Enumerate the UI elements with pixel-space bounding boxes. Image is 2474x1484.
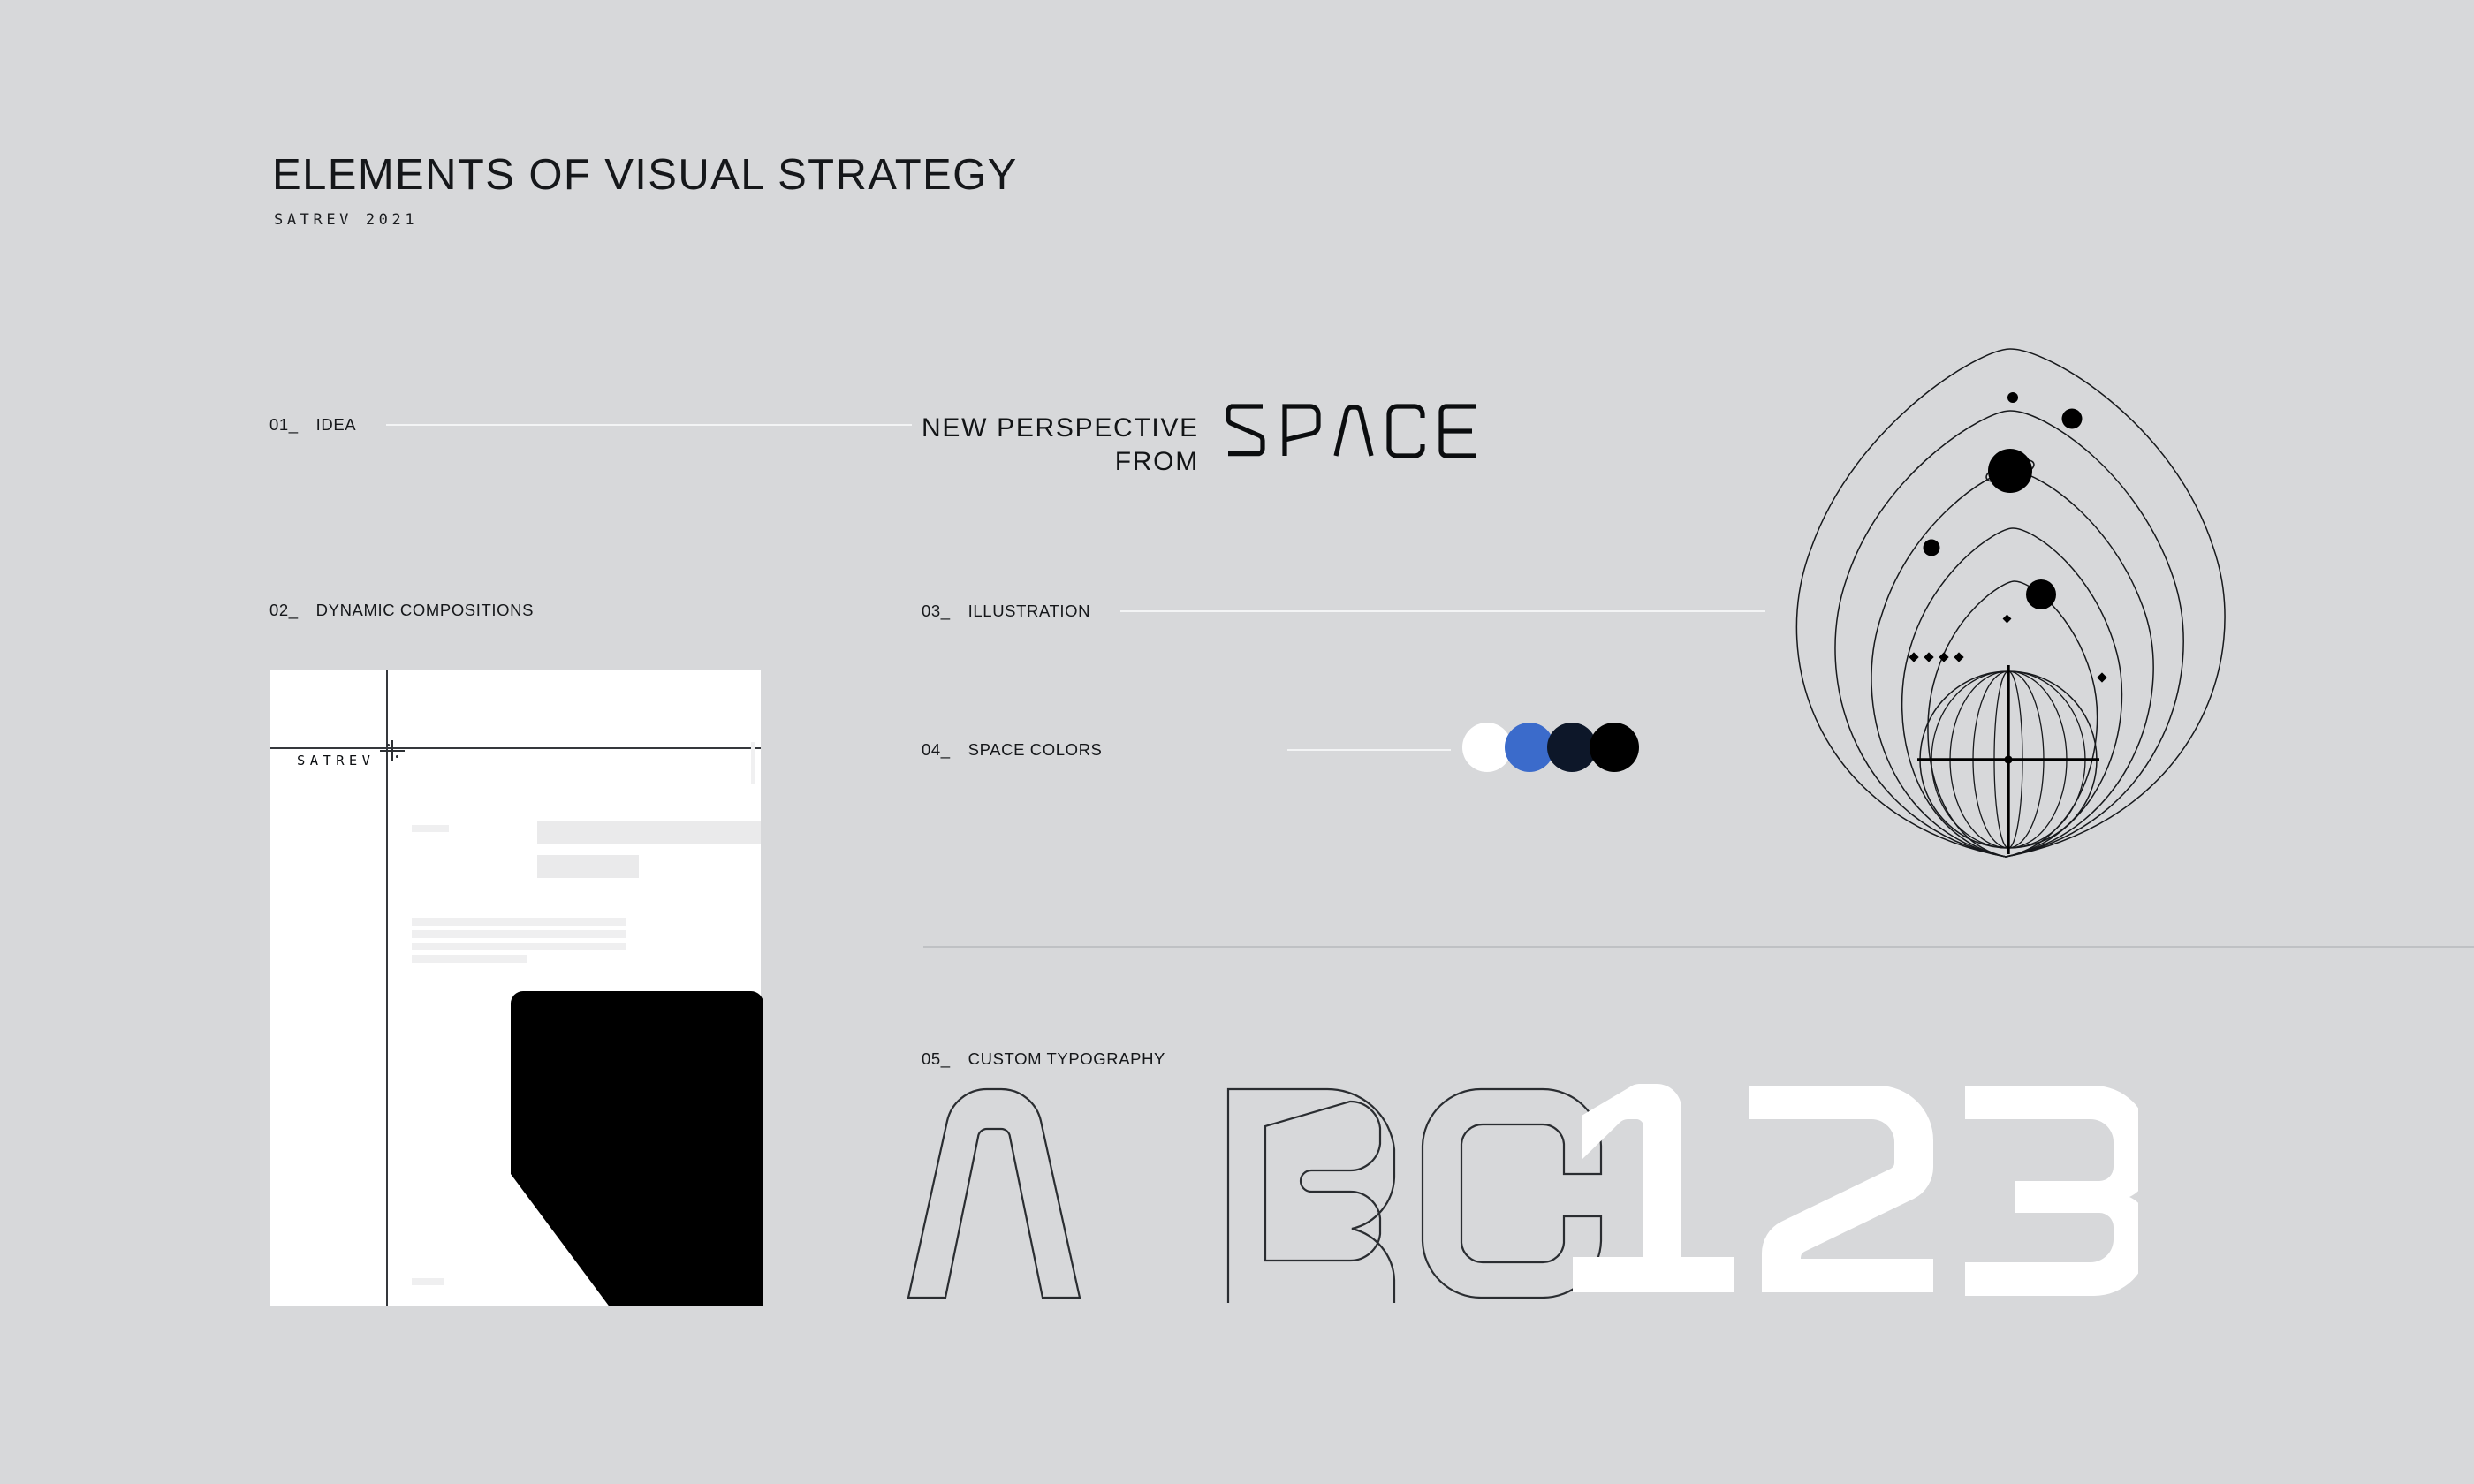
planet-medium-upper-right xyxy=(2062,409,2083,429)
section-03-illustration: 03_ ILLUSTRATION xyxy=(922,602,1765,621)
section-number: 05_ xyxy=(922,1049,951,1069)
layout-guide-horizontal xyxy=(270,747,761,749)
section-number: 03_ xyxy=(922,602,951,621)
section-number: 04_ xyxy=(922,740,951,760)
specimen-letters-abc xyxy=(908,1089,1601,1303)
headline-text: NEW PERSPECTIVE FROM xyxy=(922,404,1199,480)
section-04-space-colors: 04_ SPACE COLORS xyxy=(922,740,1451,760)
typography-specimen xyxy=(901,1082,2138,1307)
layout-guide-vertical xyxy=(386,670,388,1306)
section-number: 01_ xyxy=(269,415,299,435)
section-label: DYNAMIC COMPOSITIONS xyxy=(316,601,534,620)
placeholder-line xyxy=(412,943,626,950)
specimen-numerals-123 xyxy=(1573,1084,2138,1296)
headline-block: NEW PERSPECTIVE FROM xyxy=(922,404,1480,480)
planet-ringed xyxy=(1984,449,2036,493)
section-number: 02_ xyxy=(269,601,299,620)
headline-line-1: NEW PERSPECTIVE xyxy=(922,412,1199,445)
section-05-custom-typography: 05_ CUSTOM TYPOGRAPHY xyxy=(922,1049,1165,1069)
swatch-black[interactable] xyxy=(1590,723,1639,772)
section-01-idea: 01_ IDEA xyxy=(269,415,912,435)
headline-line-2: FROM xyxy=(922,445,1199,479)
placeholder-footer xyxy=(412,1278,444,1285)
placeholder-block xyxy=(537,855,639,878)
document-scrollbar[interactable] xyxy=(751,742,755,784)
section-rule xyxy=(1287,749,1451,751)
planet-medium-lower xyxy=(2026,579,2056,609)
space-wordmark xyxy=(1224,404,1480,463)
planet-small-left xyxy=(1924,540,1940,556)
horizontal-divider xyxy=(923,946,2474,948)
section-02-dynamic-compositions: 02_ DYNAMIC COMPOSITIONS xyxy=(269,601,534,620)
space-illustration xyxy=(1758,327,2253,888)
wireframe-globe xyxy=(1917,665,2099,854)
section-label: SPACE COLORS xyxy=(968,740,1103,760)
placeholder-label xyxy=(412,825,449,832)
registration-crosshair-icon xyxy=(380,740,405,761)
section-rule xyxy=(386,424,912,426)
color-swatch-group xyxy=(1462,723,1632,772)
document-logo: SATREV xyxy=(297,753,375,768)
orbit-rings xyxy=(1796,349,2225,857)
section-rule xyxy=(1120,610,1765,612)
placeholder-line xyxy=(412,955,527,963)
section-label: CUSTOM TYPOGRAPHY xyxy=(968,1049,1165,1069)
section-label: IDEA xyxy=(316,415,357,435)
section-label: ILLUSTRATION xyxy=(968,602,1090,621)
page-title: ELEMENTS OF VISUAL STRATEGY xyxy=(272,150,1018,200)
placeholder-line xyxy=(412,930,626,938)
brand-year-label: SATREV 2021 xyxy=(274,211,418,229)
placeholder-block xyxy=(537,821,761,844)
slide-canvas: ELEMENTS OF VISUAL STRATEGY SATREV 2021 … xyxy=(0,0,2474,1484)
placeholder-line xyxy=(412,918,626,926)
planet-small-top xyxy=(2007,392,2018,403)
